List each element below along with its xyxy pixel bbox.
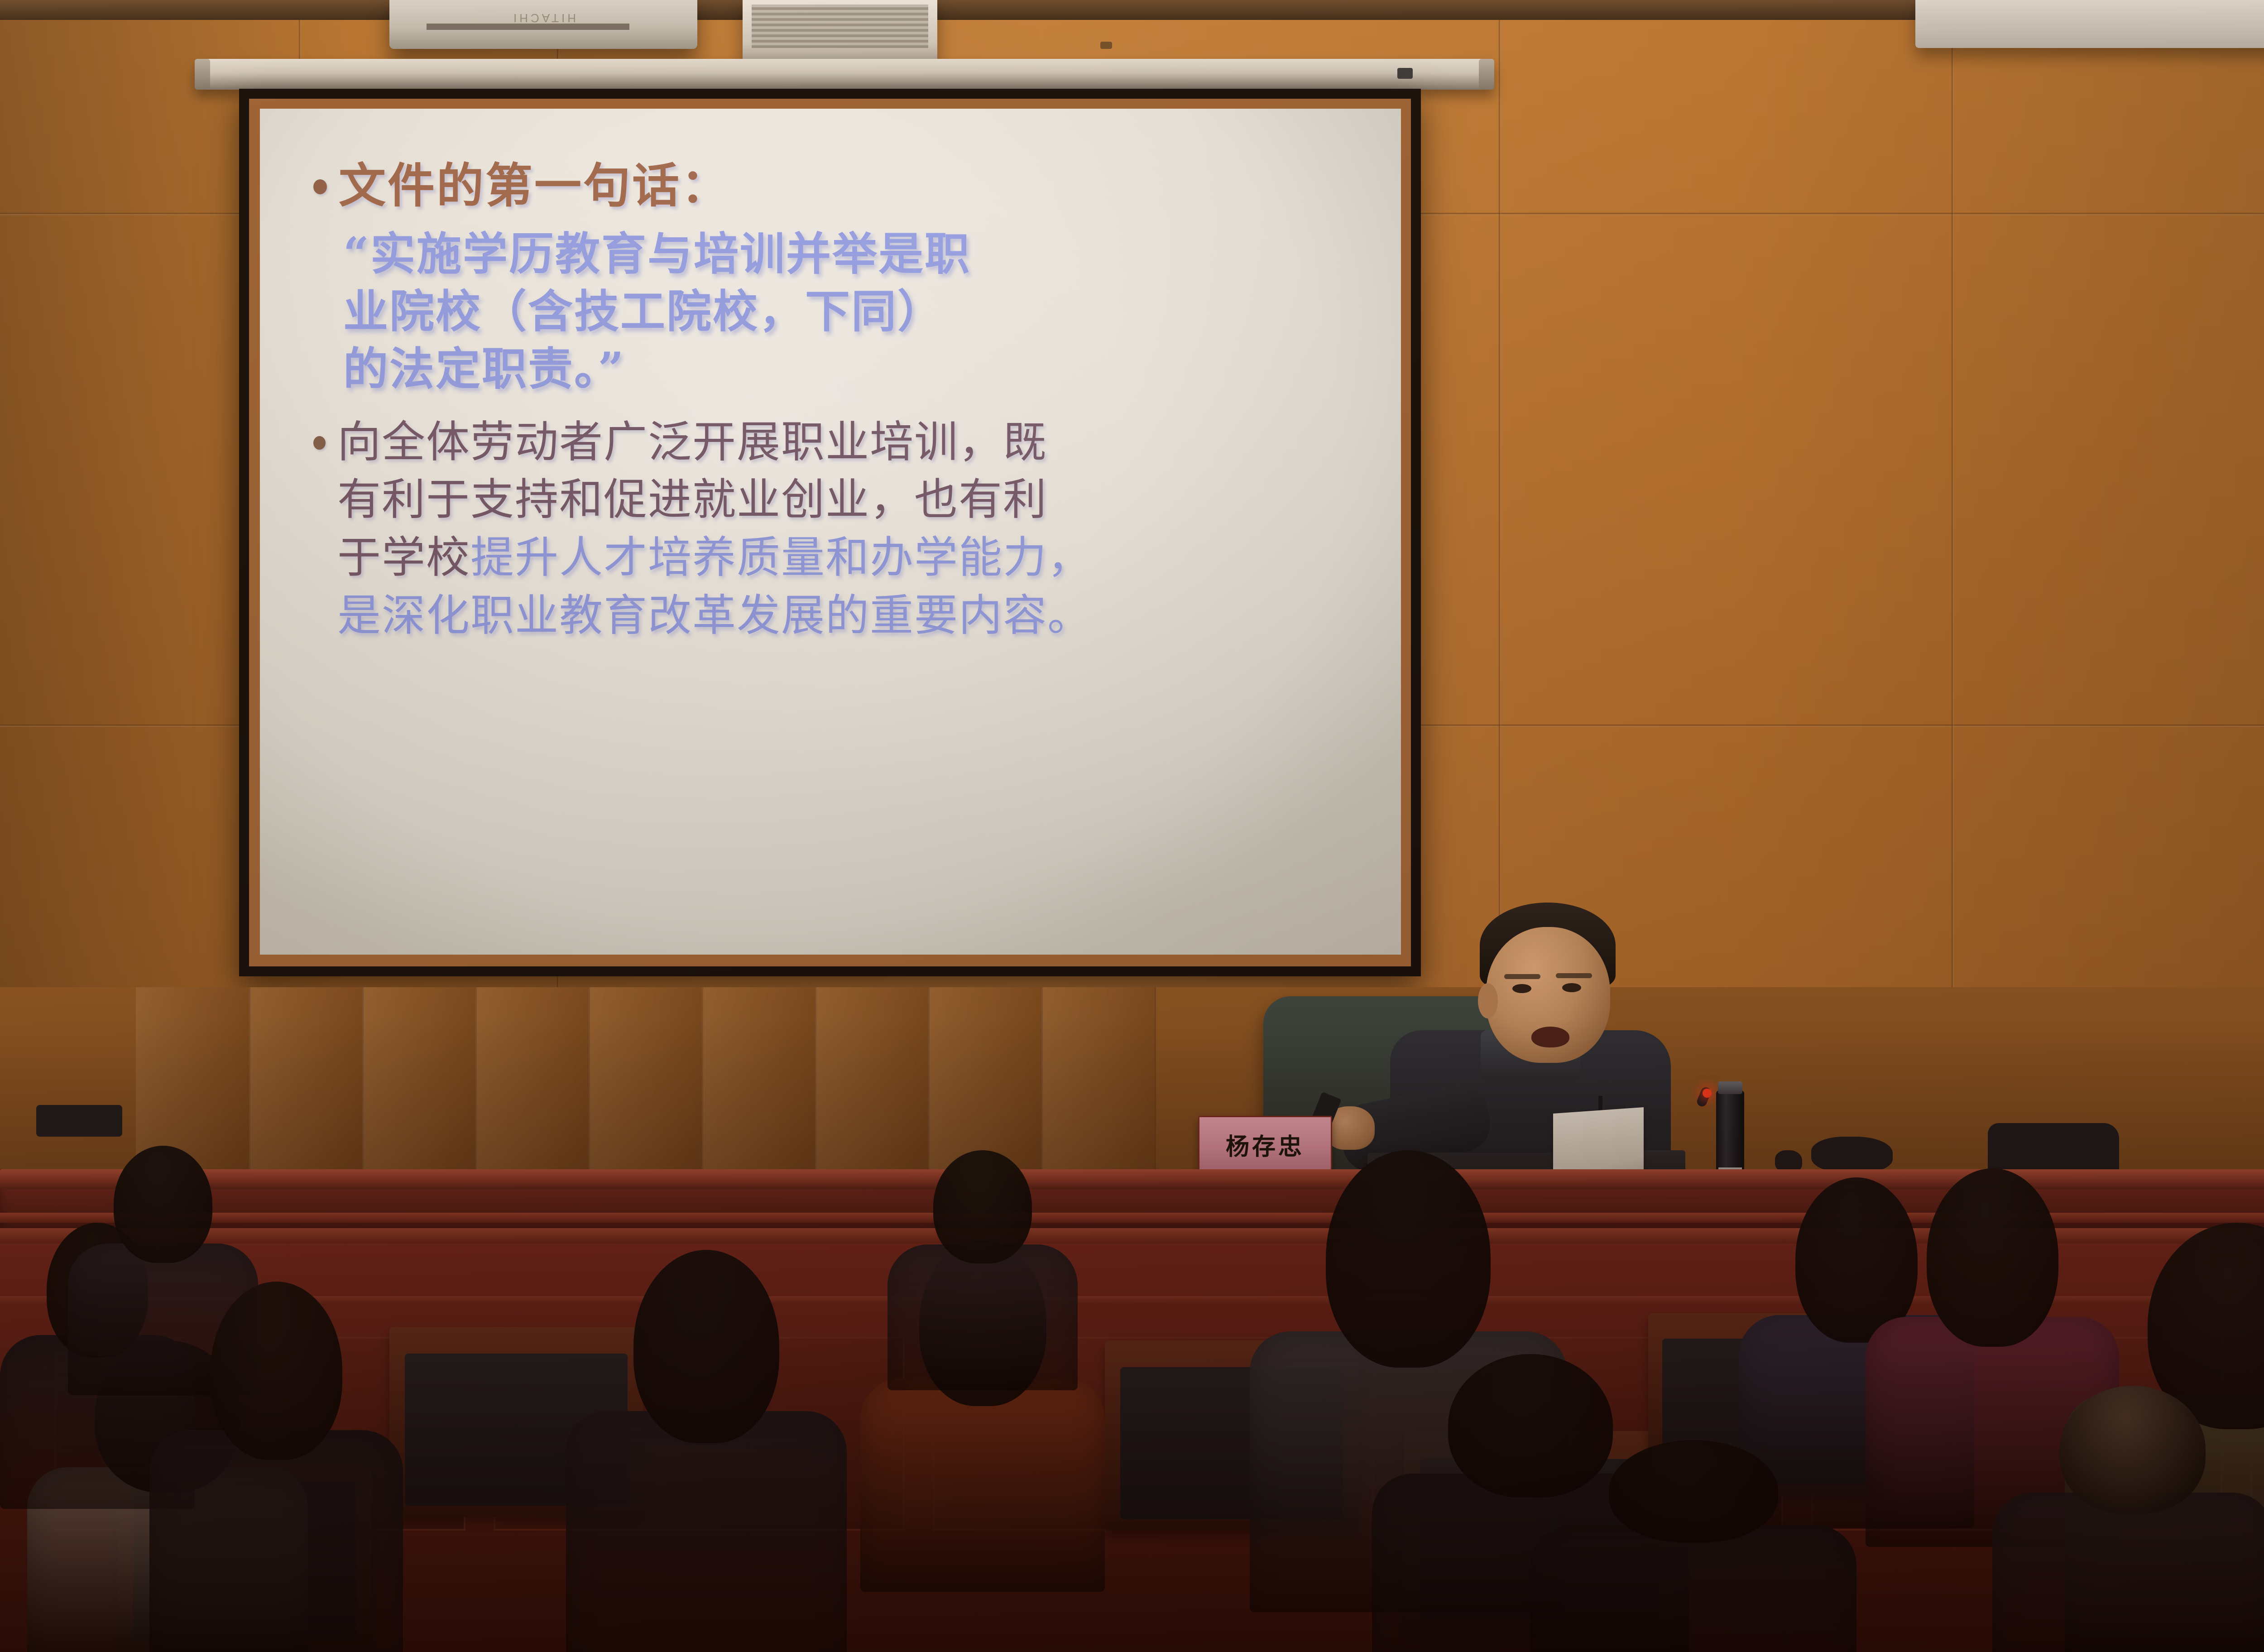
audience-member-coat [149, 1430, 403, 1652]
audience-member [887, 1150, 1078, 1386]
audience-member-head [211, 1282, 342, 1460]
audience-member-head [1609, 1440, 1778, 1542]
audience-member-coat [566, 1411, 847, 1652]
audience-member-coat [887, 1244, 1078, 1390]
audience-member-coat [860, 1378, 1105, 1592]
audience-member-head [933, 1150, 1032, 1263]
audience-member [149, 1282, 403, 1652]
audience-member-coat [1992, 1493, 2264, 1652]
audience-member-coat [1530, 1525, 1856, 1652]
audience [0, 0, 2264, 1652]
audience-member-head [633, 1250, 779, 1443]
audience-member [1992, 1386, 2264, 1652]
audience-member [566, 1250, 847, 1652]
audience-member-head [2060, 1386, 2206, 1514]
audience-member-head [1326, 1150, 1491, 1368]
audience-member-head [114, 1146, 212, 1263]
audience-member [1530, 1440, 1856, 1652]
audience-member-head [1927, 1168, 2058, 1347]
lecture-hall-scene: HITACHI 文件的第一句话： “实施学历教育与培训并举是职 业院校（含技工院… [0, 0, 2264, 1652]
